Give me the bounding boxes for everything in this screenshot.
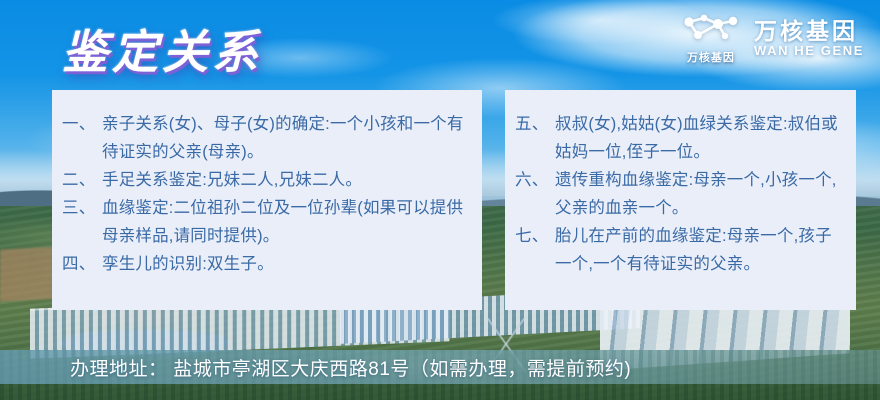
content-panels: 一、 亲子关系(女)、母子(女)的确定:一个小孩和一个有待证实的父亲(母亲)。 … [52, 90, 856, 310]
list-item-text: 亲子关系(女)、母子(女)的确定:一个小孩和一个有待证实的父亲(母亲)。 [102, 110, 468, 166]
brand-logo: 万核基因 万核基因 WAN HE GENE [680, 12, 864, 65]
list-item-number: 六、 [515, 166, 555, 194]
panel-left: 一、 亲子关系(女)、母子(女)的确定:一个小孩和一个有待证实的父亲(母亲)。 … [52, 90, 482, 310]
brand-name-cn: 万核基因 [754, 19, 864, 43]
list-item-number: 一、 [62, 110, 102, 138]
list-item-number: 三、 [62, 194, 102, 222]
promo-banner: 鉴定关系 [0, 0, 880, 400]
list-item-number: 七、 [515, 222, 555, 250]
molecule-dna-icon [680, 12, 742, 47]
brand-mark-label: 万核基因 [687, 49, 735, 65]
list-item-text: 叔叔(女),姑姑(女)血绿关系鉴定:叔伯或姑妈一位,侄子一位。 [555, 110, 842, 166]
list-item: 五、 叔叔(女),姑姑(女)血绿关系鉴定:叔伯或姑妈一位,侄子一位。 [515, 110, 842, 166]
list-item-number: 四、 [62, 250, 102, 278]
brand-wordmark: 万核基因 WAN HE GENE [754, 19, 864, 58]
list-item-text: 遗传重构血缘鉴定:母亲一个,小孩一个,父亲的血亲一个。 [555, 166, 842, 222]
list-item: 二、 手足关系鉴定:兄妹二人,兄妹二人。 [62, 166, 468, 194]
list-item: 四、 孪生儿的识别:双生子。 [62, 250, 468, 278]
list-item: 六、 遗传重构血缘鉴定:母亲一个,小孩一个,父亲的血亲一个。 [515, 166, 842, 222]
list-item-text: 手足关系鉴定:兄妹二人,兄妹二人。 [102, 166, 468, 194]
list-item: 一、 亲子关系(女)、母子(女)的确定:一个小孩和一个有待证实的父亲(母亲)。 [62, 110, 468, 166]
page-title: 鉴定关系 [62, 16, 262, 82]
brand-name-en: WAN HE GENE [754, 44, 864, 58]
list-item-number: 五、 [515, 110, 555, 138]
list-item-number: 二、 [62, 166, 102, 194]
panel-right: 五、 叔叔(女),姑姑(女)血绿关系鉴定:叔伯或姑妈一位,侄子一位。 六、 遗传… [505, 90, 856, 310]
address-text: 办理地址： 盐城市亭湖区大庆西路81号（如需办理，需提前预约) [70, 352, 830, 382]
list-item-text: 胎儿在产前的血缘鉴定:母亲一个,孩子一个,一个有待证实的父亲。 [555, 222, 842, 278]
list-item-text: 孪生儿的识别:双生子。 [102, 250, 468, 278]
list-item: 三、 血缘鉴定:二位祖孙二位及一位孙辈(如果可以提供母亲样品,请同时提供)。 [62, 194, 468, 250]
list-item-text: 血缘鉴定:二位祖孙二位及一位孙辈(如果可以提供母亲样品,请同时提供)。 [102, 194, 468, 250]
list-item: 七、 胎儿在产前的血缘鉴定:母亲一个,孩子一个,一个有待证实的父亲。 [515, 222, 842, 278]
brand-mark: 万核基因 [680, 12, 742, 65]
